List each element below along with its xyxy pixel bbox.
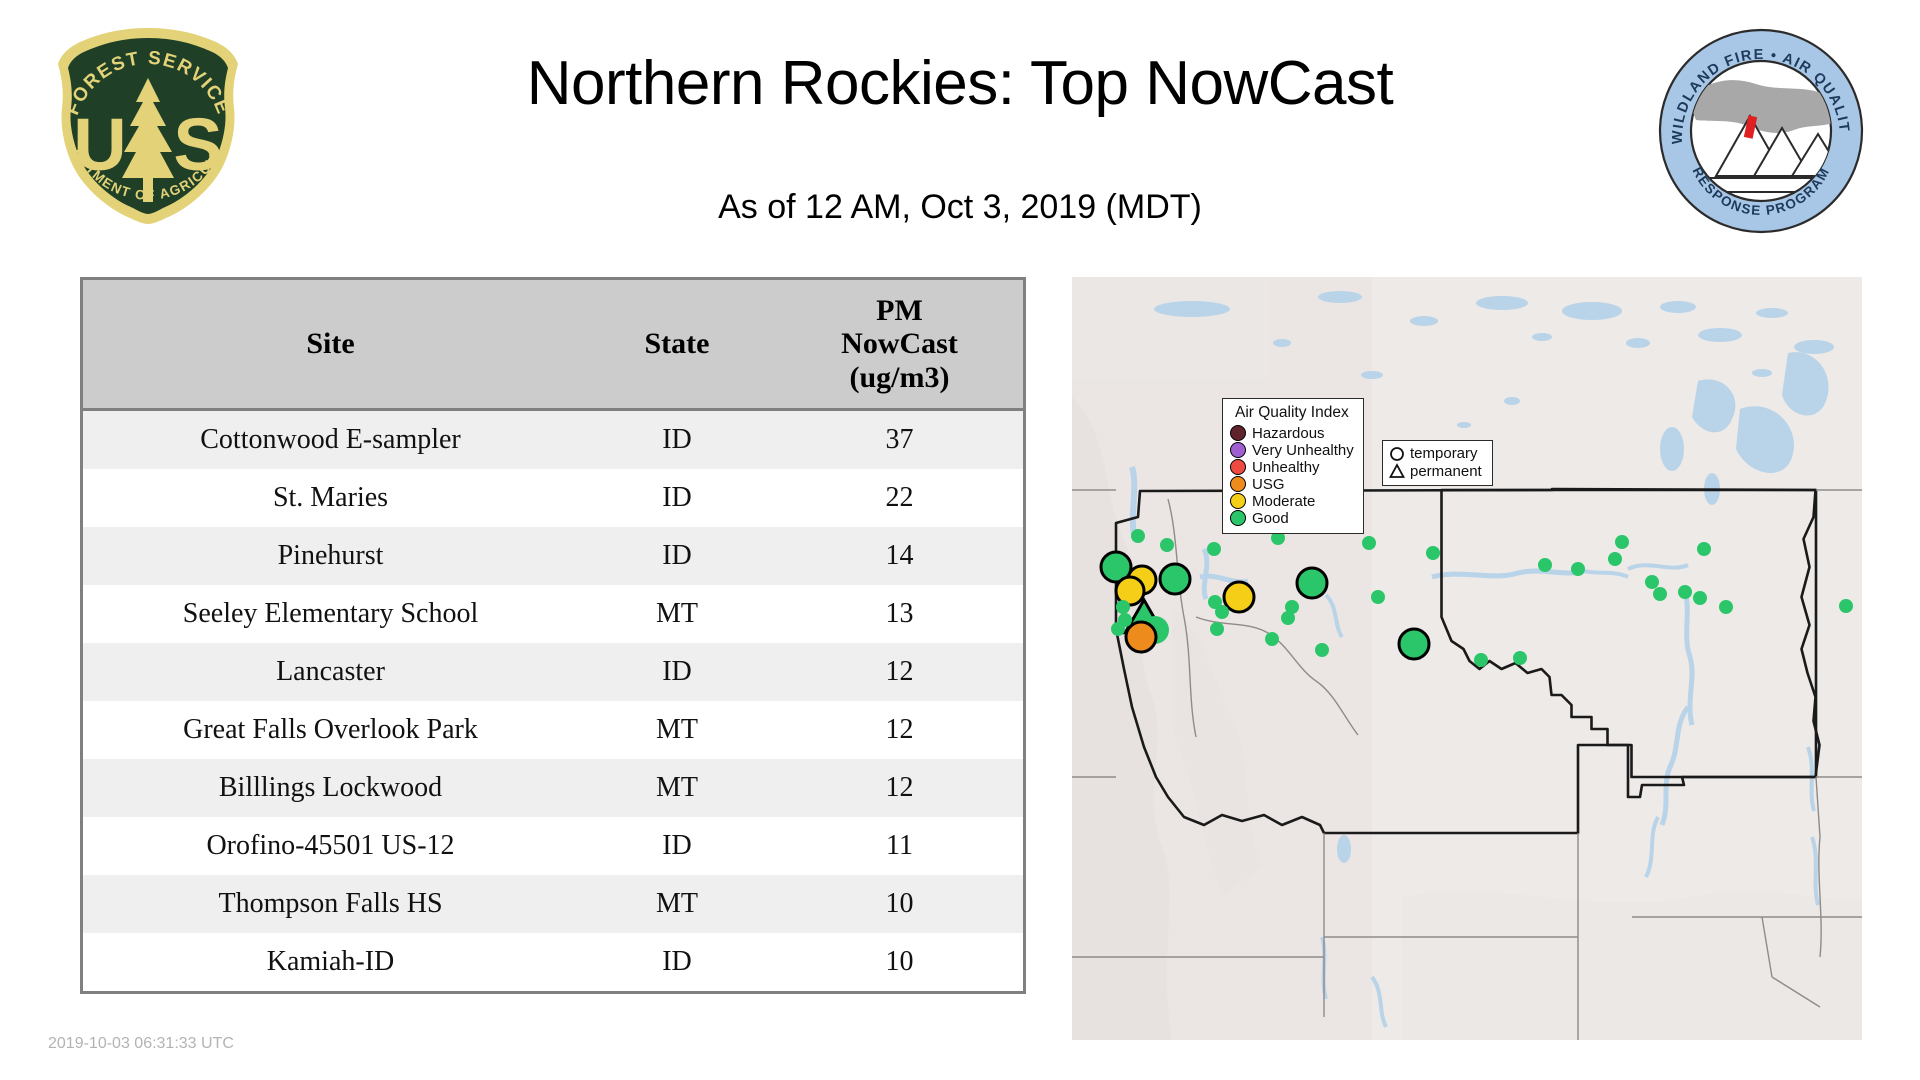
- map-marker-temporary[interactable]: [1362, 536, 1376, 550]
- column-header-pm-nowcast: PM NowCast (ug/m3): [776, 279, 1025, 410]
- aqi-legend-label: USG: [1252, 477, 1285, 492]
- map-marker-temporary[interactable]: [1210, 622, 1224, 636]
- map-marker-temporary[interactable]: [1281, 611, 1295, 625]
- aqi-legend-label: Unhealthy: [1252, 460, 1320, 475]
- map-marker-temporary[interactable]: [1538, 558, 1552, 572]
- temporary-circle-icon: [1389, 446, 1405, 462]
- table-row: Thompson Falls HSMT10: [82, 875, 1025, 933]
- cell-site: Seeley Elementary School: [82, 585, 579, 643]
- table-head: Site State PM NowCast (ug/m3): [82, 279, 1025, 410]
- map-marker-temporary[interactable]: [1697, 542, 1711, 556]
- aqi-legend-label: Very Unhealthy: [1252, 443, 1354, 458]
- aqi-legend-item: Unhealthy: [1230, 459, 1354, 475]
- page-subtitle: As of 12 AM, Oct 3, 2019 (MDT): [0, 188, 1920, 227]
- cell-state: MT: [578, 701, 776, 759]
- map-marker-temporary[interactable]: [1615, 535, 1629, 549]
- map-marker-temporary[interactable]: [1645, 575, 1659, 589]
- map-marker-temporary[interactable]: [1315, 643, 1329, 657]
- cell-value: 13: [776, 585, 1025, 643]
- map-marker-temporary[interactable]: [1719, 600, 1733, 614]
- map-marker-temporary[interactable]: [1116, 600, 1130, 614]
- cell-site: Cottonwood E-sampler: [82, 410, 579, 470]
- site-type-label-temporary: temporary: [1410, 446, 1482, 462]
- table-row: Billlings LockwoodMT12: [82, 759, 1025, 817]
- air-quality-map[interactable]: [1072, 277, 1862, 1040]
- aqi-swatch-icon: [1230, 459, 1246, 475]
- aqi-swatch-icon: [1230, 476, 1246, 492]
- cell-value: 14: [776, 527, 1025, 585]
- cell-site: Kamiah-ID: [82, 933, 579, 993]
- aqi-legend-label: Good: [1252, 511, 1289, 526]
- pm-line-1: PM: [876, 294, 923, 327]
- cell-value: 10: [776, 875, 1025, 933]
- map-marker-temporary[interactable]: [1371, 590, 1385, 604]
- cell-value: 12: [776, 643, 1025, 701]
- nowcast-table: Site State PM NowCast (ug/m3) Cottonwood…: [80, 277, 1026, 994]
- map-marker-temporary[interactable]: [1693, 591, 1707, 605]
- table-body: Cottonwood E-samplerID37St. MariesID22Pi…: [82, 410, 1025, 993]
- map-marker-temporary[interactable]: [1131, 529, 1145, 543]
- site-type-labels: temporary permanent: [1410, 446, 1482, 480]
- cell-site: Thompson Falls HS: [82, 875, 579, 933]
- aqi-legend-rows: HazardousVery UnhealthyUnhealthyUSGModer…: [1230, 425, 1354, 526]
- table-row: Kamiah-IDID10: [82, 933, 1025, 993]
- map-marker-temporary[interactable]: [1839, 599, 1853, 613]
- map-marker-temporary[interactable]: [1126, 622, 1156, 652]
- table-row: St. MariesID22: [82, 469, 1025, 527]
- table-row: PinehurstID14: [82, 527, 1025, 585]
- cell-value: 37: [776, 410, 1025, 470]
- aqi-legend-item: Very Unhealthy: [1230, 442, 1354, 458]
- table-row: Great Falls Overlook ParkMT12: [82, 701, 1025, 759]
- map-marker-temporary[interactable]: [1215, 605, 1229, 619]
- aqi-swatch-icon: [1230, 442, 1246, 458]
- cell-site: Billlings Lockwood: [82, 759, 579, 817]
- cell-state: ID: [578, 933, 776, 993]
- pm-line-3: (ug/m3): [850, 361, 950, 394]
- aqi-legend-item: USG: [1230, 476, 1354, 492]
- cell-state: ID: [578, 410, 776, 470]
- map-marker-temporary[interactable]: [1653, 587, 1667, 601]
- cell-state: ID: [578, 469, 776, 527]
- map-marker-temporary[interactable]: [1160, 538, 1174, 552]
- table-row: LancasterID12: [82, 643, 1025, 701]
- site-type-label-permanent: permanent: [1410, 464, 1482, 480]
- site-type-legend: temporary permanent: [1382, 440, 1493, 486]
- map-marker-temporary[interactable]: [1608, 552, 1622, 566]
- cell-state: MT: [578, 585, 776, 643]
- map-marker-temporary[interactable]: [1399, 629, 1429, 659]
- site-type-shapes: [1389, 446, 1405, 479]
- aqi-legend-item: Hazardous: [1230, 425, 1354, 441]
- table-header-row: Site State PM NowCast (ug/m3): [82, 279, 1025, 410]
- map-marker-temporary[interactable]: [1265, 632, 1279, 646]
- cell-site: Pinehurst: [82, 527, 579, 585]
- column-header-state: State: [578, 279, 776, 410]
- map-marker-temporary[interactable]: [1571, 562, 1585, 576]
- aqi-swatch-icon: [1230, 493, 1246, 509]
- aqi-legend-title: Air Quality Index: [1230, 404, 1354, 422]
- map-marker-temporary[interactable]: [1111, 622, 1125, 636]
- cell-value: 10: [776, 933, 1025, 993]
- cell-state: ID: [578, 527, 776, 585]
- wfaq-logo-svg: WILDLAND FIRE • AIR QUALITY RESPONSE PRO…: [1658, 28, 1864, 234]
- permanent-triangle-icon: [1389, 463, 1405, 479]
- cell-value: 12: [776, 759, 1025, 817]
- column-header-site: Site: [82, 279, 579, 410]
- cell-site: Great Falls Overlook Park: [82, 701, 579, 759]
- cell-site: St. Maries: [82, 469, 579, 527]
- map-marker-temporary[interactable]: [1678, 585, 1692, 599]
- table-row: Cottonwood E-samplerID37: [82, 410, 1025, 470]
- map-marker-temporary[interactable]: [1160, 564, 1190, 594]
- cell-state: MT: [578, 875, 776, 933]
- map-marker-temporary[interactable]: [1513, 651, 1527, 665]
- cell-value: 11: [776, 817, 1025, 875]
- cell-site: Lancaster: [82, 643, 579, 701]
- cell-value: 22: [776, 469, 1025, 527]
- map-marker-temporary[interactable]: [1474, 653, 1488, 667]
- map-marker-temporary[interactable]: [1297, 568, 1327, 598]
- cell-value: 12: [776, 701, 1025, 759]
- aqi-legend-label: Hazardous: [1252, 426, 1325, 441]
- map-marker-temporary[interactable]: [1224, 582, 1254, 612]
- footer-timestamp: 2019-10-03 06:31:33 UTC: [48, 1035, 234, 1053]
- table-row: Seeley Elementary SchoolMT13: [82, 585, 1025, 643]
- pm-line-2: NowCast: [841, 327, 958, 360]
- wildland-fire-air-quality-logo: WILDLAND FIRE • AIR QUALITY RESPONSE PRO…: [1658, 28, 1864, 234]
- aqi-legend-label: Moderate: [1252, 494, 1315, 509]
- aqi-legend-item: Moderate: [1230, 493, 1354, 509]
- aqi-legend: Air Quality Index HazardousVery Unhealth…: [1222, 398, 1364, 534]
- map-marker-temporary[interactable]: [1426, 546, 1440, 560]
- page-title: Northern Rockies: Top NowCast: [0, 48, 1920, 119]
- cell-site: Orofino-45501 US-12: [82, 817, 579, 875]
- cell-state: ID: [578, 817, 776, 875]
- table-row: Orofino-45501 US-12ID11: [82, 817, 1025, 875]
- cell-state: MT: [578, 759, 776, 817]
- map-svg: [1072, 277, 1862, 1040]
- aqi-swatch-icon: [1230, 510, 1246, 526]
- aqi-legend-item: Good: [1230, 510, 1354, 526]
- cell-state: ID: [578, 643, 776, 701]
- nowcast-table-container: Site State PM NowCast (ug/m3) Cottonwood…: [80, 277, 996, 994]
- aqi-swatch-icon: [1230, 425, 1246, 441]
- map-marker-temporary[interactable]: [1207, 542, 1221, 556]
